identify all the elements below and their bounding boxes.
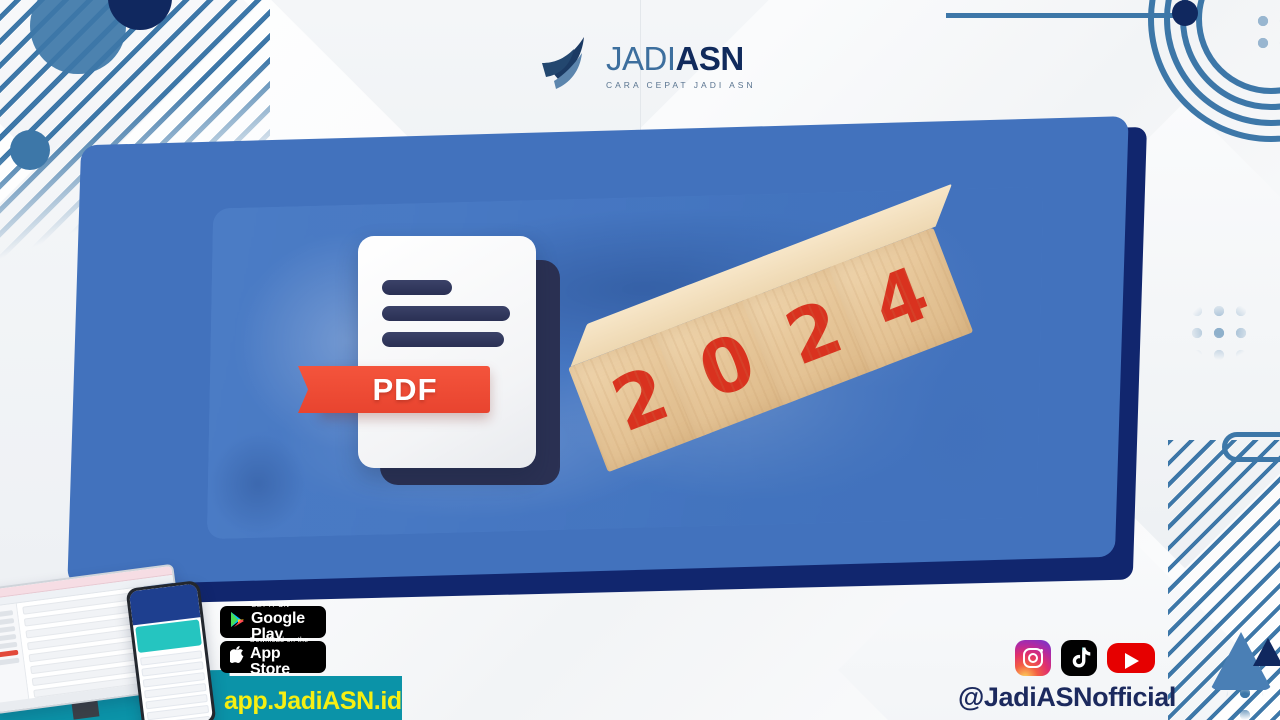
google-play-small-label: GET IT ON xyxy=(251,602,316,609)
year-digit: 2 xyxy=(603,356,678,444)
app-store-small-label: Download on the xyxy=(250,637,316,644)
app-store-badge[interactable]: Download on the App Store xyxy=(220,641,326,673)
pdf-text-line-2 xyxy=(382,306,510,321)
decor-dot-grid-topright xyxy=(1252,10,1280,50)
pdf-text-line-3 xyxy=(382,332,504,347)
google-play-badge[interactable]: GET IT ON Google Play xyxy=(220,606,326,638)
phone-header-mock xyxy=(129,583,201,625)
logo-tagline: CARA CEPAT JADI ASN xyxy=(606,81,756,90)
logo-title-light: JADI xyxy=(606,40,676,77)
logo-title: JADIASN xyxy=(606,42,756,75)
phone-screen xyxy=(129,583,213,720)
apple-icon xyxy=(230,646,244,668)
year-digit: 4 xyxy=(864,256,939,344)
decor-circle-blue-small xyxy=(10,130,50,170)
pdf-document-icon: PDF xyxy=(318,228,568,493)
google-play-icon xyxy=(230,611,245,633)
app-store-big-label: App Store xyxy=(250,646,316,678)
brand-logo: JADIASN CARA CEPAT JADI ASN xyxy=(540,24,750,104)
phone-list-mock xyxy=(137,647,214,720)
bird-swoosh-icon xyxy=(540,33,600,95)
instagram-icon[interactable] xyxy=(1015,640,1051,676)
pdf-ribbon: PDF xyxy=(320,366,490,413)
pdf-front-sheet xyxy=(358,236,536,468)
youtube-icon[interactable] xyxy=(1107,643,1155,673)
laptop-and-phone-mockup xyxy=(0,566,216,720)
pdf-label: PDF xyxy=(373,372,438,408)
decor-dot-grid-right xyxy=(1186,300,1256,360)
pdf-text-line-1 xyxy=(382,280,452,295)
social-handle[interactable]: @JadiASNofficial xyxy=(958,682,1176,713)
app-link-text[interactable]: app.JadiASN.id xyxy=(224,687,402,716)
year-digit: 2 xyxy=(777,289,852,377)
decor-connector-line xyxy=(946,13,1186,18)
poster-canvas: JADIASN CARA CEPAT JADI ASN PDF 2 0 2 4 xyxy=(0,0,1280,720)
tiktok-icon[interactable] xyxy=(1061,640,1097,676)
logo-title-bold: ASN xyxy=(676,40,744,77)
phone-mockup xyxy=(126,580,217,720)
year-digit: 0 xyxy=(690,323,765,411)
decor-connector-dot xyxy=(1172,0,1198,26)
